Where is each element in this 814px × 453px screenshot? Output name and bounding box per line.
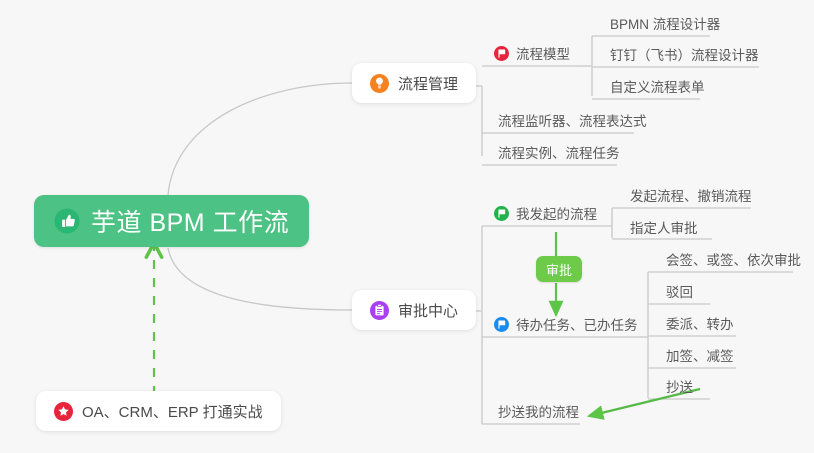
leaf-node-todo-done-tasks[interactable]: 待办任务、已办任务 — [492, 311, 644, 337]
thumbs-up-icon — [54, 208, 80, 234]
branch-label: 审批中心 — [398, 300, 458, 321]
leaf-node-process-model[interactable]: 流程模型 — [492, 40, 576, 66]
leaf-label: 流程模型 — [516, 43, 570, 63]
leaf-label: 流程实例、流程任务 — [498, 142, 620, 162]
leaf-label: 委派、转办 — [666, 313, 734, 333]
leaf-node-assignee-approval[interactable]: 指定人审批 — [624, 214, 704, 240]
leaf-node-countersign[interactable]: 会签、或签、依次审批 — [660, 246, 807, 272]
leaf-node-my-initiated-process[interactable]: 我发起的流程 — [492, 200, 603, 226]
flag-icon — [494, 46, 509, 61]
flag-icon — [494, 317, 509, 332]
leaf-label: 驳回 — [666, 281, 693, 301]
leaf-node-instance-task[interactable]: 流程实例、流程任务 — [492, 139, 626, 165]
floating-node-label: OA、CRM、ERP 打通实战 — [82, 401, 263, 422]
star-icon — [54, 402, 73, 421]
leaf-label: 会签、或签、依次审批 — [666, 249, 801, 269]
leaf-label: 发起流程、撤销流程 — [630, 185, 752, 205]
leaf-label: BPMN 流程设计器 — [610, 13, 720, 33]
branch-label: 流程管理 — [398, 73, 458, 94]
floating-node-oa-crm-erp[interactable]: OA、CRM、ERP 打通实战 — [36, 391, 281, 431]
leaf-node-delegate-transfer[interactable]: 委派、转办 — [660, 310, 740, 336]
leaf-node-bpmn-designer[interactable]: BPMN 流程设计器 — [604, 10, 726, 36]
leaf-node-start-cancel-process[interactable]: 发起流程、撤销流程 — [624, 182, 758, 208]
leaf-label: 加签、减签 — [666, 345, 734, 365]
leaf-label: 指定人审批 — [630, 217, 698, 237]
leaf-node-listener-expression[interactable]: 流程监听器、流程表达式 — [492, 107, 653, 133]
clipboard-icon — [370, 301, 389, 320]
leaf-node-cc-to-me[interactable]: 抄送我的流程 — [492, 398, 585, 424]
annotation-approval-tag: 审批 — [536, 256, 582, 282]
leaf-node-dingtalk-designer[interactable]: 钉钉（飞书）流程设计器 — [604, 41, 765, 67]
leaf-node-add-remove-sign[interactable]: 加签、减签 — [660, 342, 740, 368]
leaf-label: 自定义流程表单 — [610, 76, 705, 96]
lightbulb-icon — [370, 74, 389, 93]
leaf-label: 我发起的流程 — [516, 203, 597, 223]
root-node[interactable]: 芋道 BPM 工作流 — [34, 195, 309, 247]
annotation-label: 审批 — [546, 260, 572, 279]
mindmap-canvas: 芋道 BPM 工作流 流程管理 流程模型 BPMN 流程设计器 钉钉（飞书）流程… — [0, 0, 814, 453]
branch-node-approval-center[interactable]: 审批中心 — [352, 290, 476, 330]
branch-node-process-management[interactable]: 流程管理 — [352, 63, 476, 103]
flag-icon — [494, 206, 509, 221]
leaf-label: 抄送 — [666, 376, 693, 396]
leaf-label: 待办任务、已办任务 — [516, 314, 638, 334]
leaf-label: 抄送我的流程 — [498, 401, 579, 421]
leaf-node-cc[interactable]: 抄送 — [660, 373, 699, 399]
leaf-node-reject[interactable]: 驳回 — [660, 278, 699, 304]
leaf-label: 钉钉（飞书）流程设计器 — [610, 44, 759, 64]
root-label: 芋道 BPM 工作流 — [91, 203, 289, 239]
leaf-label: 流程监听器、流程表达式 — [498, 110, 647, 130]
leaf-node-custom-form[interactable]: 自定义流程表单 — [604, 73, 711, 99]
